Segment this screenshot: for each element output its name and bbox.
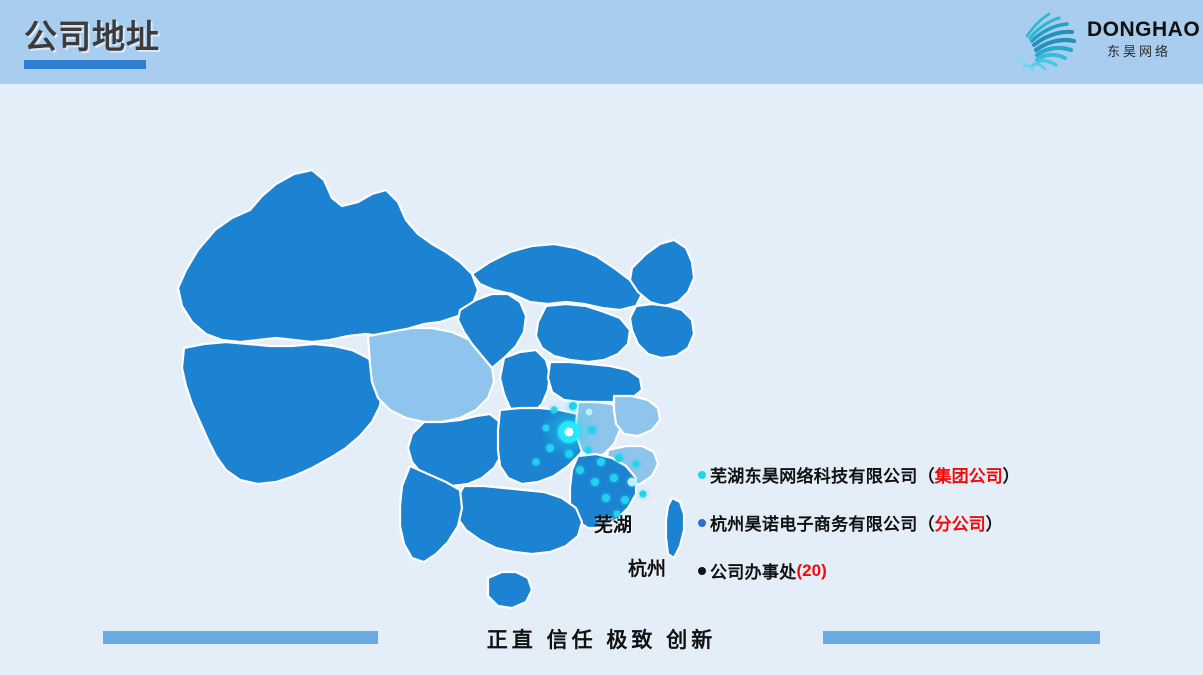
map-office-dot[interactable] — [597, 458, 605, 466]
legend-item-offices[interactable]: 公司办事处 ( 20 ) — [698, 558, 1028, 583]
page-title-group: 公司地址 — [24, 17, 160, 69]
map-office-dot[interactable] — [640, 491, 647, 498]
island-hainan — [488, 572, 532, 608]
header-band: 公司地址 — [0, 0, 1203, 84]
legend-company-name: 公司办事处 — [710, 558, 797, 583]
map-office-dot[interactable] — [602, 494, 610, 502]
legend-close-paren: ） — [1003, 462, 1020, 487]
legend-close-paren: ） — [986, 510, 1003, 535]
legend: 芜湖东昊网络科技有限公司 （ 集团公司 ） 杭州昊诺电子商务有限公司 （ 分公司… — [698, 462, 1028, 606]
legend-bullet-icon — [698, 471, 706, 479]
map-office-dot[interactable] — [628, 478, 637, 487]
logo-name-cn: 东昊网络 — [1087, 43, 1191, 60]
map-office-dot[interactable] — [569, 402, 577, 410]
map-office-dot[interactable] — [591, 478, 599, 486]
legend-close-paren: ) — [821, 561, 827, 581]
china-map-svg — [80, 110, 720, 610]
province-shaanxi — [500, 350, 550, 416]
legend-company-name: 芜湖东昊网络科技有限公司 — [710, 462, 918, 487]
map-office-dot[interactable] — [576, 466, 584, 474]
footer-slogan: 正直 信任 极致 创新 — [0, 624, 1203, 654]
map-office-dot[interactable] — [610, 474, 618, 482]
logo-name-en: DONGHAO — [1087, 18, 1191, 42]
legend-open-paren: （ — [918, 462, 935, 487]
map-office-dot[interactable] — [586, 409, 593, 416]
map-marker-wuhu-headquarters[interactable] — [556, 419, 582, 445]
fan-wing-logo-icon — [1011, 8, 1091, 76]
logo-text-group: DONGHAO 东昊网络 — [1087, 18, 1191, 60]
company-logo: DONGHAO 东昊网络 — [1011, 8, 1189, 76]
province-jilin-liaoning — [630, 304, 694, 358]
legend-item-branch-company[interactable]: 杭州昊诺电子商务有限公司 （ 分公司 ） — [698, 510, 1028, 535]
map-office-dot[interactable] — [565, 450, 573, 458]
province-guangdong-guangxi — [456, 486, 582, 554]
province-xinjiang — [178, 170, 478, 342]
legend-bullet-icon — [698, 567, 706, 575]
legend-bullet-icon — [698, 519, 706, 527]
map-office-dot[interactable] — [585, 447, 592, 454]
map-office-dot[interactable] — [546, 444, 554, 452]
map-office-dot[interactable] — [633, 461, 640, 468]
legend-tag: 20 — [802, 561, 821, 581]
island-taiwan — [666, 498, 684, 558]
province-hebei-shanxi — [536, 304, 630, 362]
province-tibet — [182, 342, 382, 484]
map-office-dot[interactable] — [543, 425, 550, 432]
map-office-dot[interactable] — [621, 496, 629, 504]
legend-item-group-company[interactable]: 芜湖东昊网络科技有限公司 （ 集团公司 ） — [698, 462, 1028, 487]
province-jiangsu — [614, 396, 660, 436]
page-title: 公司地址 — [24, 17, 160, 57]
slide-root: 公司地址 — [0, 0, 1203, 675]
legend-tag: 分公司 — [935, 510, 986, 535]
map-office-dot[interactable] — [614, 511, 621, 518]
china-map: 芜湖 杭州 — [80, 110, 720, 610]
legend-company-name: 杭州昊诺电子商务有限公司 — [710, 510, 918, 535]
title-underline — [24, 60, 146, 69]
map-office-dot[interactable] — [588, 426, 596, 434]
map-office-dot[interactable] — [551, 407, 558, 414]
legend-open-paren: （ — [918, 510, 935, 535]
map-office-dot[interactable] — [615, 454, 623, 462]
legend-tag: 集团公司 — [935, 462, 1003, 487]
map-office-dot[interactable] — [533, 459, 540, 466]
